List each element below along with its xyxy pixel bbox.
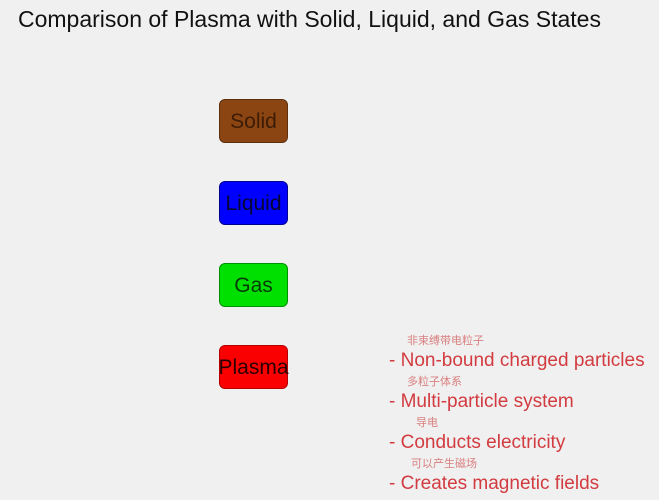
- property-annotation-cn: 可以产生磁场: [411, 459, 477, 470]
- property-item: 导电 - Conducts electricity: [389, 418, 659, 459]
- state-box-gas[interactable]: Gas: [219, 263, 288, 307]
- state-label-plasma: Plasma: [218, 357, 288, 378]
- state-box-plasma[interactable]: Plasma: [219, 345, 288, 389]
- page-title: Comparison of Plasma with Solid, Liquid,…: [18, 6, 601, 33]
- property-item: 多粒子体系 - Multi-particle system: [389, 377, 659, 418]
- property-item: 可以产生磁场 - Creates magnetic fields: [389, 459, 659, 500]
- property-text-en: - Conducts electricity: [389, 431, 565, 455]
- property-text-en: - Non-bound charged particles: [389, 349, 645, 373]
- property-annotation-cn: 多粒子体系: [407, 377, 462, 388]
- state-box-liquid[interactable]: Liquid: [219, 181, 288, 225]
- plasma-properties-list: 非束缚带电粒子 - Non-bound charged particles 多粒…: [389, 336, 659, 500]
- state-box-solid[interactable]: Solid: [219, 99, 288, 143]
- state-label-gas: Gas: [234, 275, 273, 296]
- property-item: 非束缚带电粒子 - Non-bound charged particles: [389, 336, 659, 377]
- property-text-en: - Multi-particle system: [389, 390, 574, 414]
- state-label-solid: Solid: [230, 111, 277, 132]
- property-text-en: - Creates magnetic fields: [389, 472, 599, 496]
- property-annotation-cn: 非束缚带电粒子: [407, 336, 484, 347]
- property-annotation-cn: 导电: [416, 418, 438, 429]
- state-label-liquid: Liquid: [225, 193, 281, 214]
